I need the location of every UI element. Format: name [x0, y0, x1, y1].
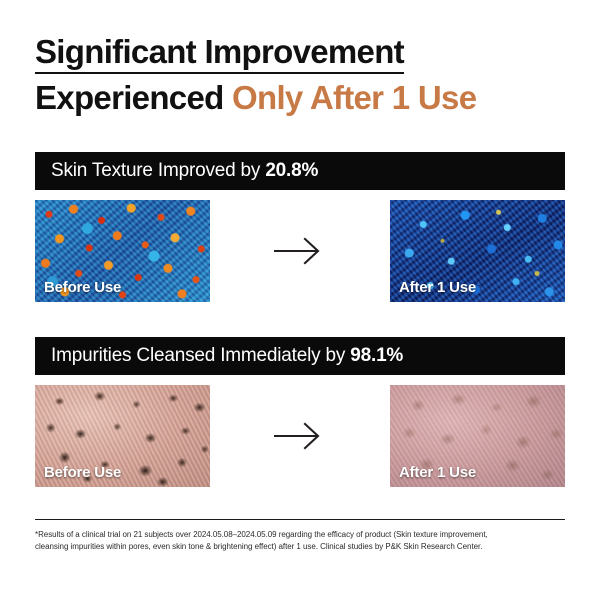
- stat-banner-value: 98.1%: [350, 345, 403, 366]
- stat-banner-prefix: Impurities Cleansed Immediately by: [51, 345, 350, 366]
- photo-label-before: Before Use: [44, 464, 121, 481]
- footnote-line-1: *Results of a clinical trial on 21 subje…: [35, 529, 567, 541]
- headline-line-1: Significant Improvement: [35, 32, 404, 74]
- footnote-disclaimer: *Results of a clinical trial on 21 subje…: [35, 529, 567, 552]
- photo-after-skin-texture: After 1 Use: [390, 200, 565, 302]
- photo-label-after: After 1 Use: [399, 464, 476, 481]
- arrow-right-icon: [268, 416, 332, 456]
- footnote-divider: [35, 519, 565, 520]
- page-title: Significant Improvement Experienced Only…: [35, 32, 575, 117]
- headline-row-1: Significant Improvement: [35, 32, 575, 74]
- headline-row-2: Experienced Only After 1 Use: [35, 78, 575, 117]
- headline-line-2-accent: Only After 1 Use: [232, 79, 476, 116]
- photo-before-skin-texture: Before Use: [35, 200, 210, 302]
- photo-after-impurities: After 1 Use: [390, 385, 565, 487]
- comparison-row-impurities: Before Use After 1 Use: [35, 385, 565, 487]
- footnote-line-2: cleansing impurities within pores, even …: [35, 541, 567, 553]
- comparison-row-skin-texture: Before Use After 1 Use: [35, 200, 565, 302]
- photo-before-impurities: Before Use: [35, 385, 210, 487]
- photo-label-before: Before Use: [44, 279, 121, 296]
- stat-banner-impurities: Impurities Cleansed Immediately by 98.1%: [35, 337, 565, 375]
- photo-label-after: After 1 Use: [399, 279, 476, 296]
- infographic-page: Significant Improvement Experienced Only…: [0, 0, 600, 600]
- arrow-right-icon: [268, 231, 332, 271]
- headline-line-2-plain: Experienced: [35, 79, 232, 116]
- stat-banner-text: Skin Texture Improved by 20.8%: [35, 160, 318, 182]
- stat-banner-prefix: Skin Texture Improved by: [51, 160, 265, 181]
- stat-banner-text: Impurities Cleansed Immediately by 98.1%: [35, 345, 403, 367]
- stat-banner-skin-texture: Skin Texture Improved by 20.8%: [35, 152, 565, 190]
- stat-banner-value: 20.8%: [265, 160, 318, 181]
